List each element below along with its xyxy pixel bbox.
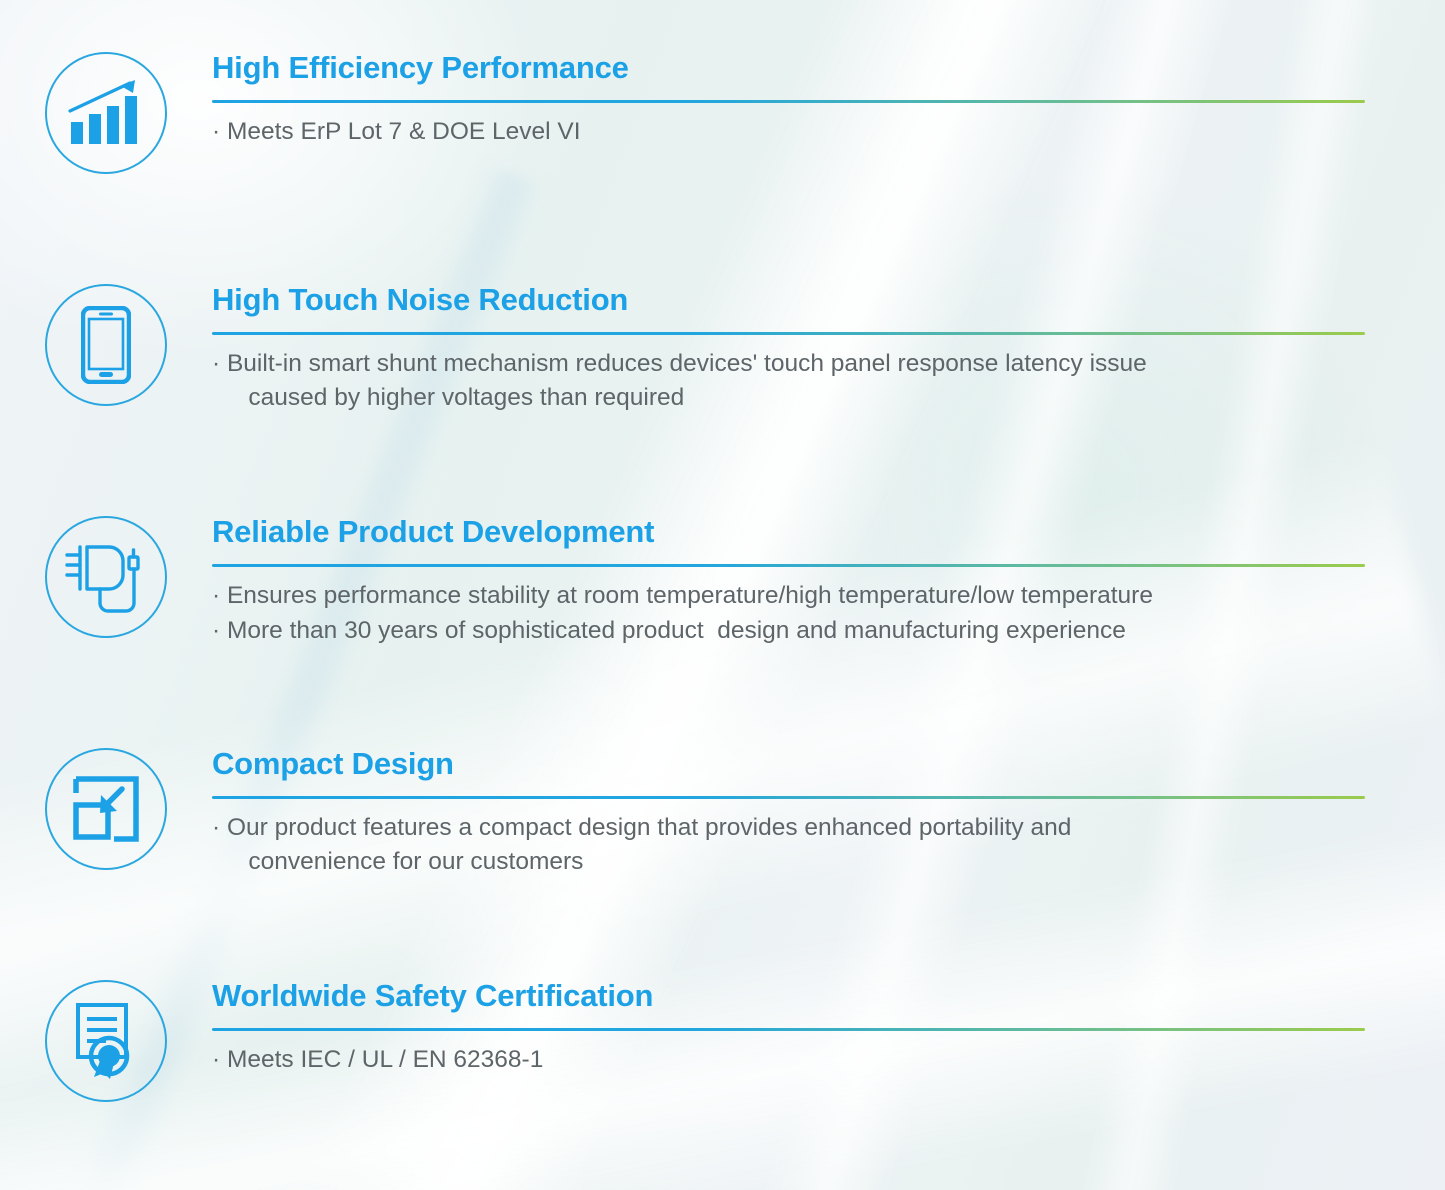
feature-body: High Touch Noise Reduction · Built-in sm… — [212, 268, 1445, 416]
feature-bullet: · Meets ErP Lot 7 & DOE Level VI — [212, 115, 1365, 150]
feature-body: High Efficiency Performance · Meets ErP … — [212, 36, 1445, 149]
feature-body: Worldwide Safety Certification · Meets I… — [212, 964, 1445, 1077]
feature-title: Compact Design — [212, 732, 1365, 782]
feature-body: Reliable Product Development · Ensures p… — [212, 500, 1445, 649]
feature-item-worldwide-safety-certification: Worldwide Safety Certification · Meets I… — [0, 964, 1445, 1164]
feature-body: Compact Design · Our product features a … — [212, 732, 1445, 880]
feature-icon-wrap — [0, 732, 212, 870]
feature-bullet: · Built-in smart shunt mechanism reduces… — [212, 347, 1365, 417]
feature-bullet: · More than 30 years of sophisticated pr… — [212, 614, 1365, 649]
feature-icon-wrap — [0, 500, 212, 638]
feature-divider — [212, 564, 1365, 567]
feature-item-compact-design: Compact Design · Our product features a … — [0, 732, 1445, 964]
feature-title: Reliable Product Development — [212, 500, 1365, 550]
feature-bullet: · Our product features a compact design … — [212, 811, 1365, 881]
compact-resize-icon — [45, 748, 167, 870]
feature-bullet: · Meets IEC / UL / EN 62368-1 — [212, 1043, 1365, 1078]
feature-title: High Touch Noise Reduction — [212, 268, 1365, 318]
feature-divider — [212, 332, 1365, 335]
feature-bullets: · Ensures performance stability at room … — [212, 579, 1365, 650]
feature-item-reliable-product-development: Reliable Product Development · Ensures p… — [0, 500, 1445, 732]
bar-chart-growth-icon — [45, 52, 167, 174]
power-adapter-icon — [45, 516, 167, 638]
feature-icon-wrap — [0, 964, 212, 1102]
feature-icon-wrap — [0, 268, 212, 406]
feature-icon-wrap — [0, 36, 212, 174]
feature-title: Worldwide Safety Certification — [212, 964, 1365, 1014]
feature-item-high-touch-noise-reduction: High Touch Noise Reduction · Built-in sm… — [0, 268, 1445, 500]
feature-bullets: · Built-in smart shunt mechanism reduces… — [212, 347, 1365, 417]
feature-divider — [212, 796, 1365, 799]
feature-title: High Efficiency Performance — [212, 36, 1365, 86]
feature-bullets: · Meets ErP Lot 7 & DOE Level VI — [212, 115, 1365, 150]
certificate-seal-icon — [45, 980, 167, 1102]
feature-highlights-page: High Efficiency Performance · Meets ErP … — [0, 0, 1445, 1190]
feature-divider — [212, 1028, 1365, 1031]
feature-list: High Efficiency Performance · Meets ErP … — [0, 0, 1445, 1164]
feature-bullet: · Ensures performance stability at room … — [212, 579, 1365, 614]
smartphone-icon — [45, 284, 167, 406]
feature-item-high-efficiency-performance: High Efficiency Performance · Meets ErP … — [0, 36, 1445, 268]
feature-divider — [212, 100, 1365, 103]
feature-bullets: · Meets IEC / UL / EN 62368-1 — [212, 1043, 1365, 1078]
feature-bullets: · Our product features a compact design … — [212, 811, 1365, 881]
